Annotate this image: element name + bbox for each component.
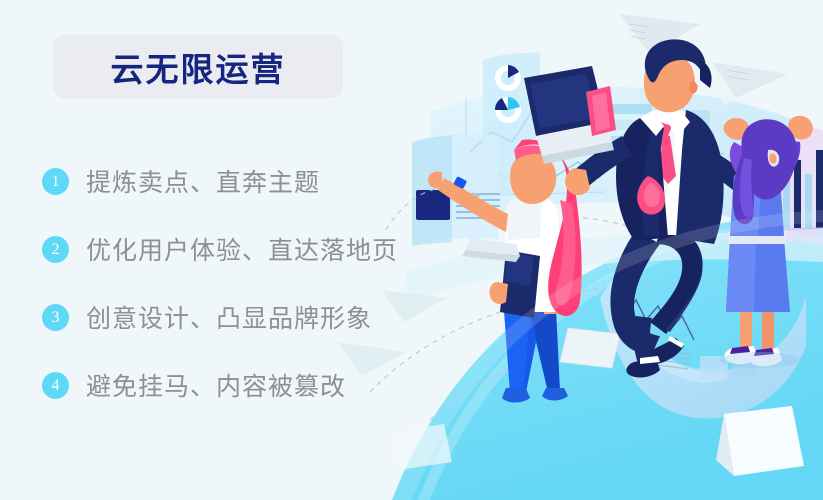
list-item: 3 创意设计、凸显品牌形象: [42, 283, 462, 351]
text-content-layer: 云无限运营 1 提炼卖点、直奔主题 2 优化用户体验、直达落地页 3 创意设计、…: [0, 0, 823, 500]
list-item-label: 优化用户体验、直达落地页: [86, 231, 398, 267]
page-title: 云无限运营: [53, 35, 343, 98]
list-item: 2 优化用户体验、直达落地页: [42, 215, 462, 283]
feature-list: 1 提炼卖点、直奔主题 2 优化用户体验、直达落地页 3 创意设计、凸显品牌形象…: [42, 147, 462, 419]
list-item-number-badge: 1: [42, 168, 69, 195]
list-item: 1 提炼卖点、直奔主题: [42, 147, 462, 215]
list-item-number-badge: 2: [42, 236, 69, 263]
list-item: 4 避免挂马、内容被篡改: [42, 351, 462, 419]
list-item-number-badge: 4: [42, 372, 69, 399]
list-item-label: 避免挂马、内容被篡改: [86, 367, 346, 403]
list-item-number-badge: 3: [42, 304, 69, 331]
list-item-label: 创意设计、凸显品牌形象: [86, 299, 372, 335]
marketing-banner: 云无限运营 1 提炼卖点、直奔主题 2 优化用户体验、直达落地页 3 创意设计、…: [0, 0, 823, 500]
list-item-label: 提炼卖点、直奔主题: [86, 163, 320, 199]
